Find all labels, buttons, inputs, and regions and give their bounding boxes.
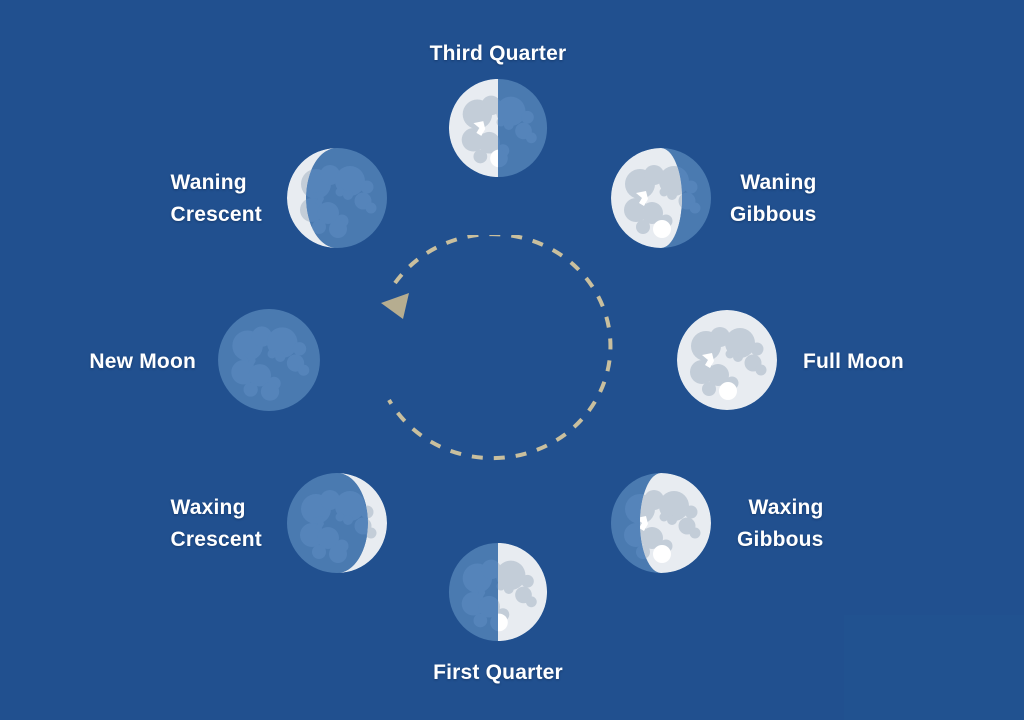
phase-label-waning-gibbous: Waning Gibbous — [730, 167, 817, 231]
moon-phases-diagram: Third QuarterWaning GibbousFull MoonWaxi… — [0, 0, 1024, 720]
moon-waxing-gibbous — [608, 470, 714, 576]
phase-label-full-moon: Full Moon — [803, 346, 904, 378]
moon-full-moon — [674, 307, 780, 413]
moon-first-quarter — [446, 540, 550, 644]
moon-new-moon — [215, 306, 323, 414]
phase-label-third-quarter: Third Quarter — [0, 38, 996, 70]
moon-waxing-crescent — [284, 470, 390, 576]
phase-label-waxing-crescent: Waxing Crescent — [171, 492, 262, 556]
moon-waning-crescent — [284, 145, 390, 251]
phase-label-first-quarter: First Quarter — [0, 657, 996, 689]
moon-waning-gibbous — [608, 145, 714, 251]
phase-label-waning-crescent: Waning Crescent — [171, 167, 262, 231]
moon-third-quarter — [446, 76, 550, 180]
phase-label-waxing-gibbous: Waxing Gibbous — [737, 492, 824, 556]
lunar-cycle-arrow — [355, 235, 645, 510]
phase-label-new-moon: New Moon — [89, 346, 196, 378]
